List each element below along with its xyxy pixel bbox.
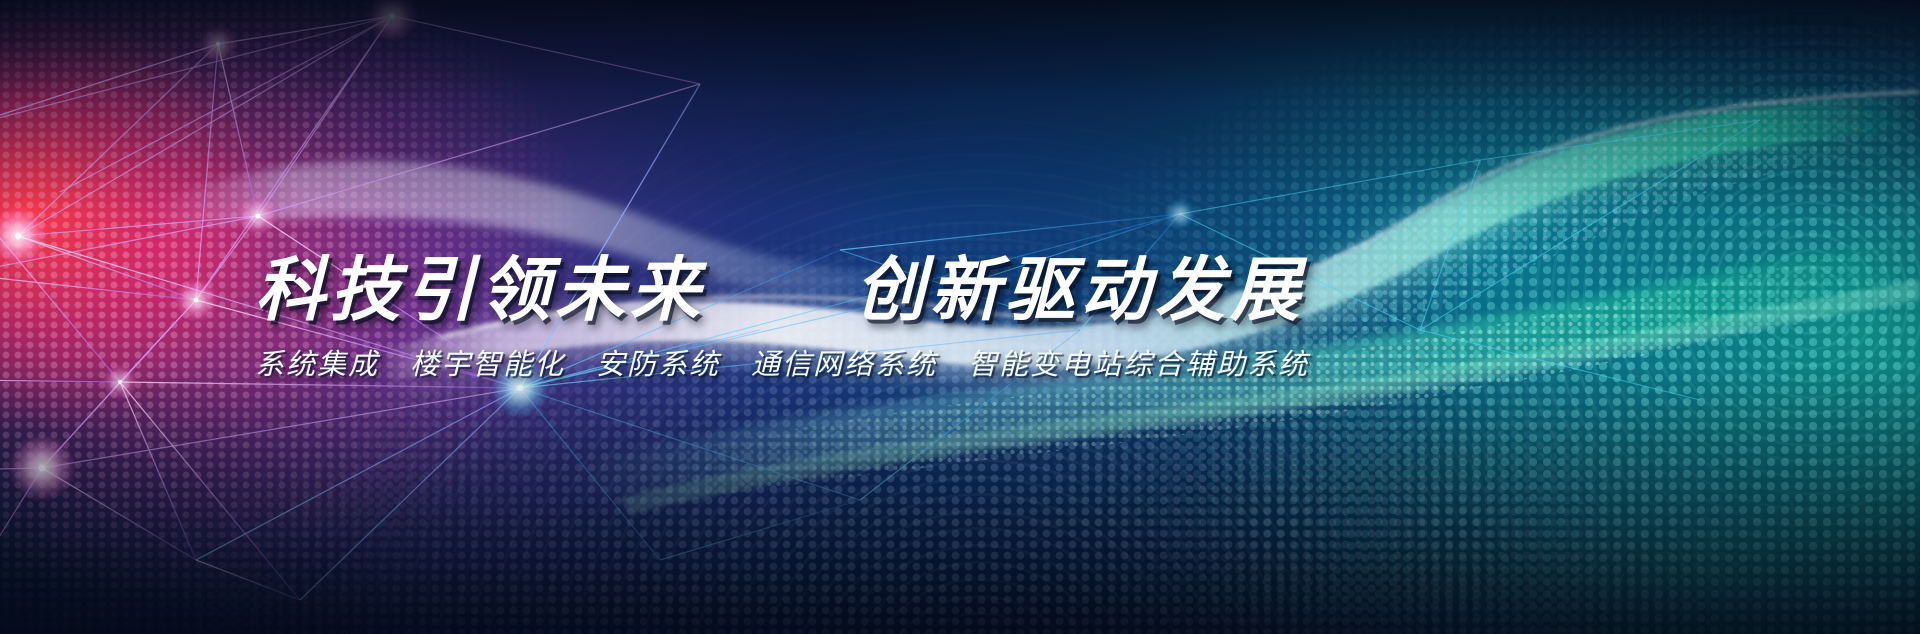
tech-banner: 科技引领未来 创新驱动发展 系统集成 楼宇智能化 安防系统 通信网络系统 智能变… [0, 0, 1920, 634]
vignette-overlay [0, 0, 1920, 634]
